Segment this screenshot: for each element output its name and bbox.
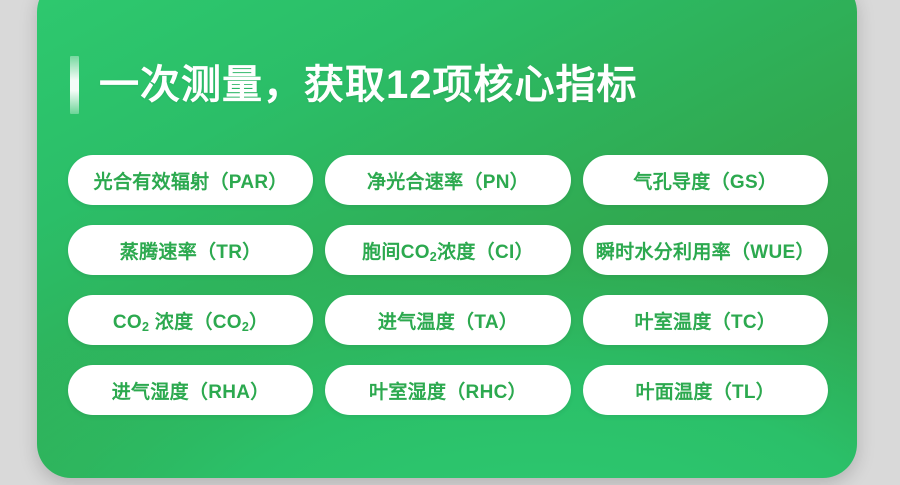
metric-label: 光合有效辐射（PAR） [94, 167, 288, 194]
metric-label: 叶面温度（TL） [636, 377, 776, 404]
metric-label: 胞间CO2浓度（CI） [362, 237, 534, 264]
metric-pill-par[interactable]: 光合有效辐射（PAR） [68, 155, 313, 205]
metric-pill-tl[interactable]: 叶面温度（TL） [583, 365, 828, 415]
metric-label: 蒸腾速率（TR） [120, 237, 262, 264]
green-feature-panel: 一次测量，获取12项核心指标 光合有效辐射（PAR） 净光合速率（PN） 气孔导… [37, 0, 857, 478]
metrics-row: 光合有效辐射（PAR） 净光合速率（PN） 气孔导度（GS） [68, 155, 828, 205]
metric-pill-tc[interactable]: 叶室温度（TC） [583, 295, 828, 345]
metric-pill-gs[interactable]: 气孔导度（GS） [583, 155, 828, 205]
metric-pill-rhc[interactable]: 叶室湿度（RHC） [325, 365, 570, 415]
metric-pill-pn[interactable]: 净光合速率（PN） [325, 155, 570, 205]
metric-label: 进气温度（TA） [378, 307, 518, 334]
metric-label: 气孔导度（GS） [633, 167, 777, 194]
metric-pill-rha[interactable]: 进气湿度（RHA） [68, 365, 313, 415]
metrics-row: CO2 浓度（CO2） 进气温度（TA） 叶室温度（TC） [68, 295, 828, 345]
metric-pill-ci[interactable]: 胞间CO2浓度（CI） [325, 225, 570, 275]
metric-pill-co2[interactable]: CO2 浓度（CO2） [68, 295, 313, 345]
metrics-grid: 光合有效辐射（PAR） 净光合速率（PN） 气孔导度（GS） 蒸腾速率（TR） … [68, 155, 828, 415]
metric-label: 净光合速率（PN） [367, 167, 529, 194]
metric-label: CO2 浓度（CO2） [113, 307, 269, 334]
metric-label: 进气湿度（RHA） [112, 377, 270, 404]
header: 一次测量，获取12项核心指标 [70, 56, 638, 114]
metric-label: 叶室温度（TC） [634, 307, 776, 334]
page-title: 一次测量，获取12项核心指标 [99, 56, 638, 114]
metrics-row: 蒸腾速率（TR） 胞间CO2浓度（CI） 瞬时水分利用率（WUE） [68, 225, 828, 275]
title-accent-bar [70, 56, 79, 114]
metrics-row: 进气湿度（RHA） 叶室湿度（RHC） 叶面温度（TL） [68, 365, 828, 415]
metric-pill-ta[interactable]: 进气温度（TA） [325, 295, 570, 345]
metric-pill-wue[interactable]: 瞬时水分利用率（WUE） [583, 225, 828, 275]
metric-label: 叶室湿度（RHC） [369, 377, 527, 404]
metric-pill-tr[interactable]: 蒸腾速率（TR） [68, 225, 313, 275]
metric-label: 瞬时水分利用率（WUE） [596, 237, 815, 264]
